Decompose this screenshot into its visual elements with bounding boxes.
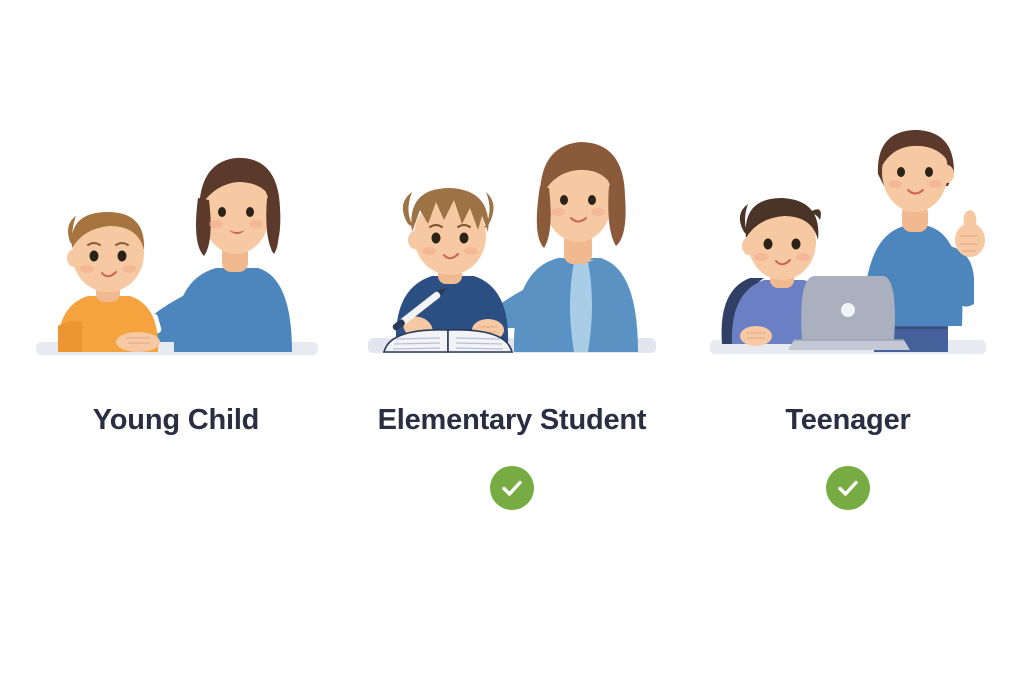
teenager-illustration	[680, 0, 1016, 370]
option-label-young-child: Young Child	[93, 406, 259, 435]
check-icon	[836, 476, 860, 500]
check-icon	[500, 476, 524, 500]
elementary-student-illustration	[344, 0, 680, 370]
option-label-teenager: Teenager	[785, 406, 910, 435]
option-card-list: Young Child	[0, 0, 1024, 683]
teenager-artwork	[698, 120, 998, 370]
selected-check-teenager	[826, 466, 870, 510]
elementary-student-artwork	[362, 120, 662, 370]
young-child-illustration	[8, 0, 344, 370]
young-child-artwork	[26, 120, 326, 370]
selected-check-elementary-student	[490, 466, 534, 510]
check-slot-elementary-student	[344, 466, 680, 536]
check-slot-young-child	[8, 466, 344, 536]
age-group-selector: Young Child	[0, 0, 1024, 683]
option-card-elementary-student[interactable]: Elementary Student	[344, 0, 680, 683]
option-label-elementary-student: Elementary Student	[378, 406, 647, 435]
option-card-teenager[interactable]: Teenager	[680, 0, 1016, 683]
option-card-young-child[interactable]: Young Child	[8, 0, 344, 683]
check-slot-teenager	[680, 466, 1016, 536]
